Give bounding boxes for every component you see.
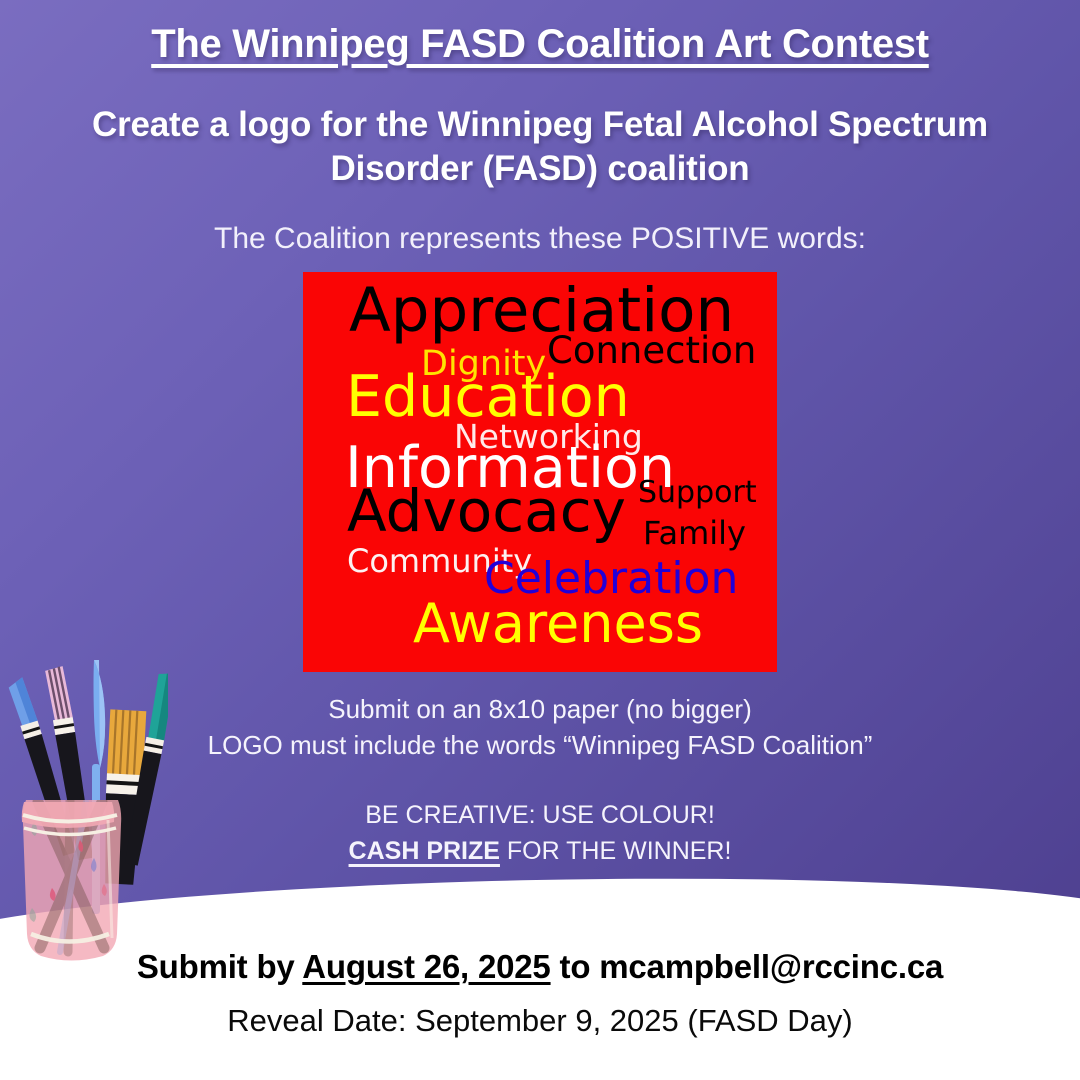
deadline-date: August 26, 2025 <box>302 948 550 985</box>
rule-paper-size: Submit on an 8x10 paper (no bigger) <box>0 692 1080 728</box>
wordcloud-word: Family <box>643 517 746 549</box>
page-subtitle: Create a logo for the Winnipeg Fetal Alc… <box>60 103 1020 192</box>
submit-prefix: Submit by <box>137 948 302 985</box>
positive-words-wordcloud: AppreciationConnectionDignityEducationNe… <box>303 272 777 672</box>
rule-logo-words: LOGO must include the words “Winnipeg FA… <box>0 728 1080 764</box>
wordcloud-word: Awareness <box>413 597 703 651</box>
submission-rules: Submit on an 8x10 paper (no bigger) LOGO… <box>0 692 1080 764</box>
lead-text: The Coalition represents these POSITIVE … <box>0 222 1080 256</box>
cash-prize-rest: FOR THE WINNER! <box>500 837 731 865</box>
poster-canvas: The Winnipeg FASD Coalition Art Contest … <box>0 0 1080 1080</box>
submit-deadline-line: Submit by August 26, 2025 to mcampbell@r… <box>0 948 1080 986</box>
cash-prize-line: CASH PRIZE FOR THE WINNER! <box>0 834 1080 870</box>
page-title: The Winnipeg FASD Coalition Art Contest <box>0 22 1080 67</box>
cash-prize-label: CASH PRIZE <box>349 837 500 865</box>
wordcloud-words: AppreciationConnectionDignityEducationNe… <box>303 272 777 672</box>
be-creative-line: BE CREATIVE: USE COLOUR! <box>0 798 1080 834</box>
wordcloud-word: Support <box>638 478 757 508</box>
reveal-date-line: Reveal Date: September 9, 2025 (FASD Day… <box>0 1003 1080 1039</box>
submit-email: to mcampbell@rccinc.ca <box>551 948 944 985</box>
creative-prize-block: BE CREATIVE: USE COLOUR! CASH PRIZE FOR … <box>0 798 1080 869</box>
wordcloud-word: Advocacy <box>347 482 626 540</box>
